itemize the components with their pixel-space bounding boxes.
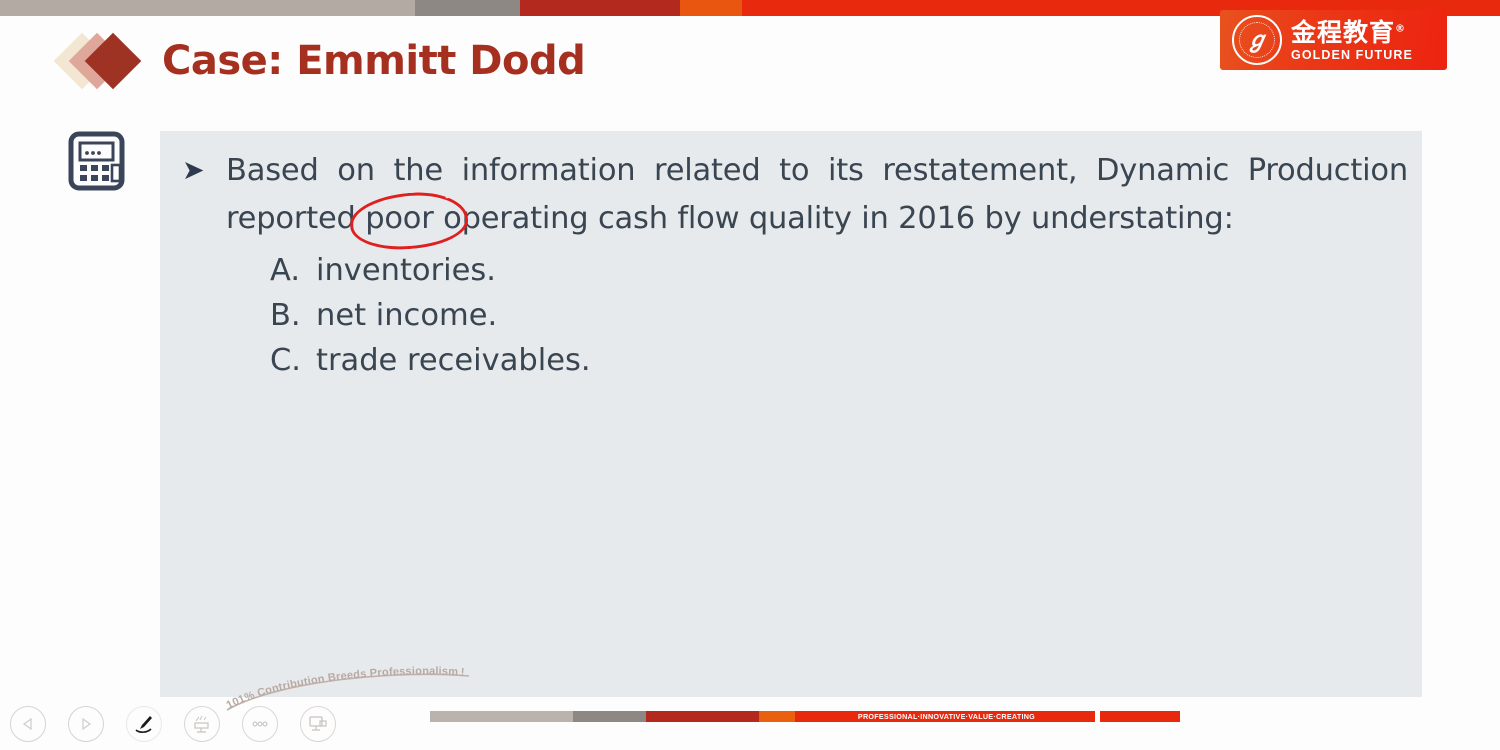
question-row: ➤ Based on the information related to it…	[182, 147, 1408, 243]
next-slide-button[interactable]	[68, 706, 104, 742]
answer-option-b-text: net income.	[316, 298, 497, 333]
ellipsis-icon	[249, 713, 271, 735]
slide-header: Case: Emmitt Dodd	[62, 30, 585, 92]
segment-taupe	[0, 0, 415, 16]
presenter-screen-icon	[307, 713, 329, 735]
brand-logo: ℊ 金程教育® GOLDEN FUTURE	[1220, 10, 1447, 70]
answer-options-list: A. inventories. B. net income. C. trade …	[182, 253, 1408, 378]
page-title: Case: Emmitt Dodd	[162, 38, 585, 84]
question-block: ➤ Based on the information related to it…	[160, 131, 1422, 378]
registered-mark: ®	[1395, 23, 1406, 34]
answer-option-a-text: inventories.	[316, 253, 496, 288]
previous-slide-button[interactable]	[10, 706, 46, 742]
content-panel: ➤ Based on the information related to it…	[160, 131, 1422, 697]
segment-orange	[680, 0, 742, 16]
triangle-left-icon	[20, 716, 36, 732]
laser-pointer-icon	[191, 713, 213, 735]
brand-text: 金程教育® GOLDEN FUTURE	[1291, 19, 1413, 62]
more-options-button[interactable]	[242, 706, 278, 742]
question-text: Based on the information related to its …	[226, 147, 1408, 243]
triangle-right-icon	[78, 716, 94, 732]
answer-option-c[interactable]: C. trade receivables.	[270, 343, 1408, 378]
answer-option-b-letter: B.	[270, 298, 316, 333]
question-text-post: operating cash flow quality in 2016 by u…	[434, 201, 1234, 236]
bullet-arrow-icon: ➤	[182, 147, 226, 195]
question-highlighted-word: poor	[365, 201, 433, 236]
bottom-tagline: PROFESSIONAL·INNOVATIVE·VALUE·CREATING	[497, 711, 1107, 722]
answer-option-c-text: trade receivables.	[316, 343, 591, 378]
brand-name-cn: 金程教育®	[1291, 19, 1413, 46]
pen-tool-button[interactable]	[126, 706, 162, 742]
diamond-decoration-icon	[62, 30, 158, 92]
brand-seal-glyph: ℊ	[1246, 29, 1268, 51]
segment-gray	[415, 0, 520, 16]
presentation-toolbar	[10, 706, 336, 742]
brand-name-en: GOLDEN FUTURE	[1291, 48, 1413, 62]
presenter-view-button[interactable]	[300, 706, 336, 742]
answer-option-a-letter: A.	[270, 253, 316, 288]
brand-name-cn-text: 金程教育	[1291, 18, 1395, 47]
calculator-icon	[68, 131, 125, 191]
brand-seal-icon: ℊ	[1232, 15, 1282, 65]
pen-icon	[133, 713, 155, 735]
segment-dark-red	[520, 0, 680, 16]
answer-option-a[interactable]: A. inventories.	[270, 253, 1408, 288]
answer-option-b[interactable]: B. net income.	[270, 298, 1408, 333]
pointer-tool-button[interactable]	[184, 706, 220, 742]
bseg-red-end	[1100, 711, 1180, 722]
answer-option-c-letter: C.	[270, 343, 316, 378]
